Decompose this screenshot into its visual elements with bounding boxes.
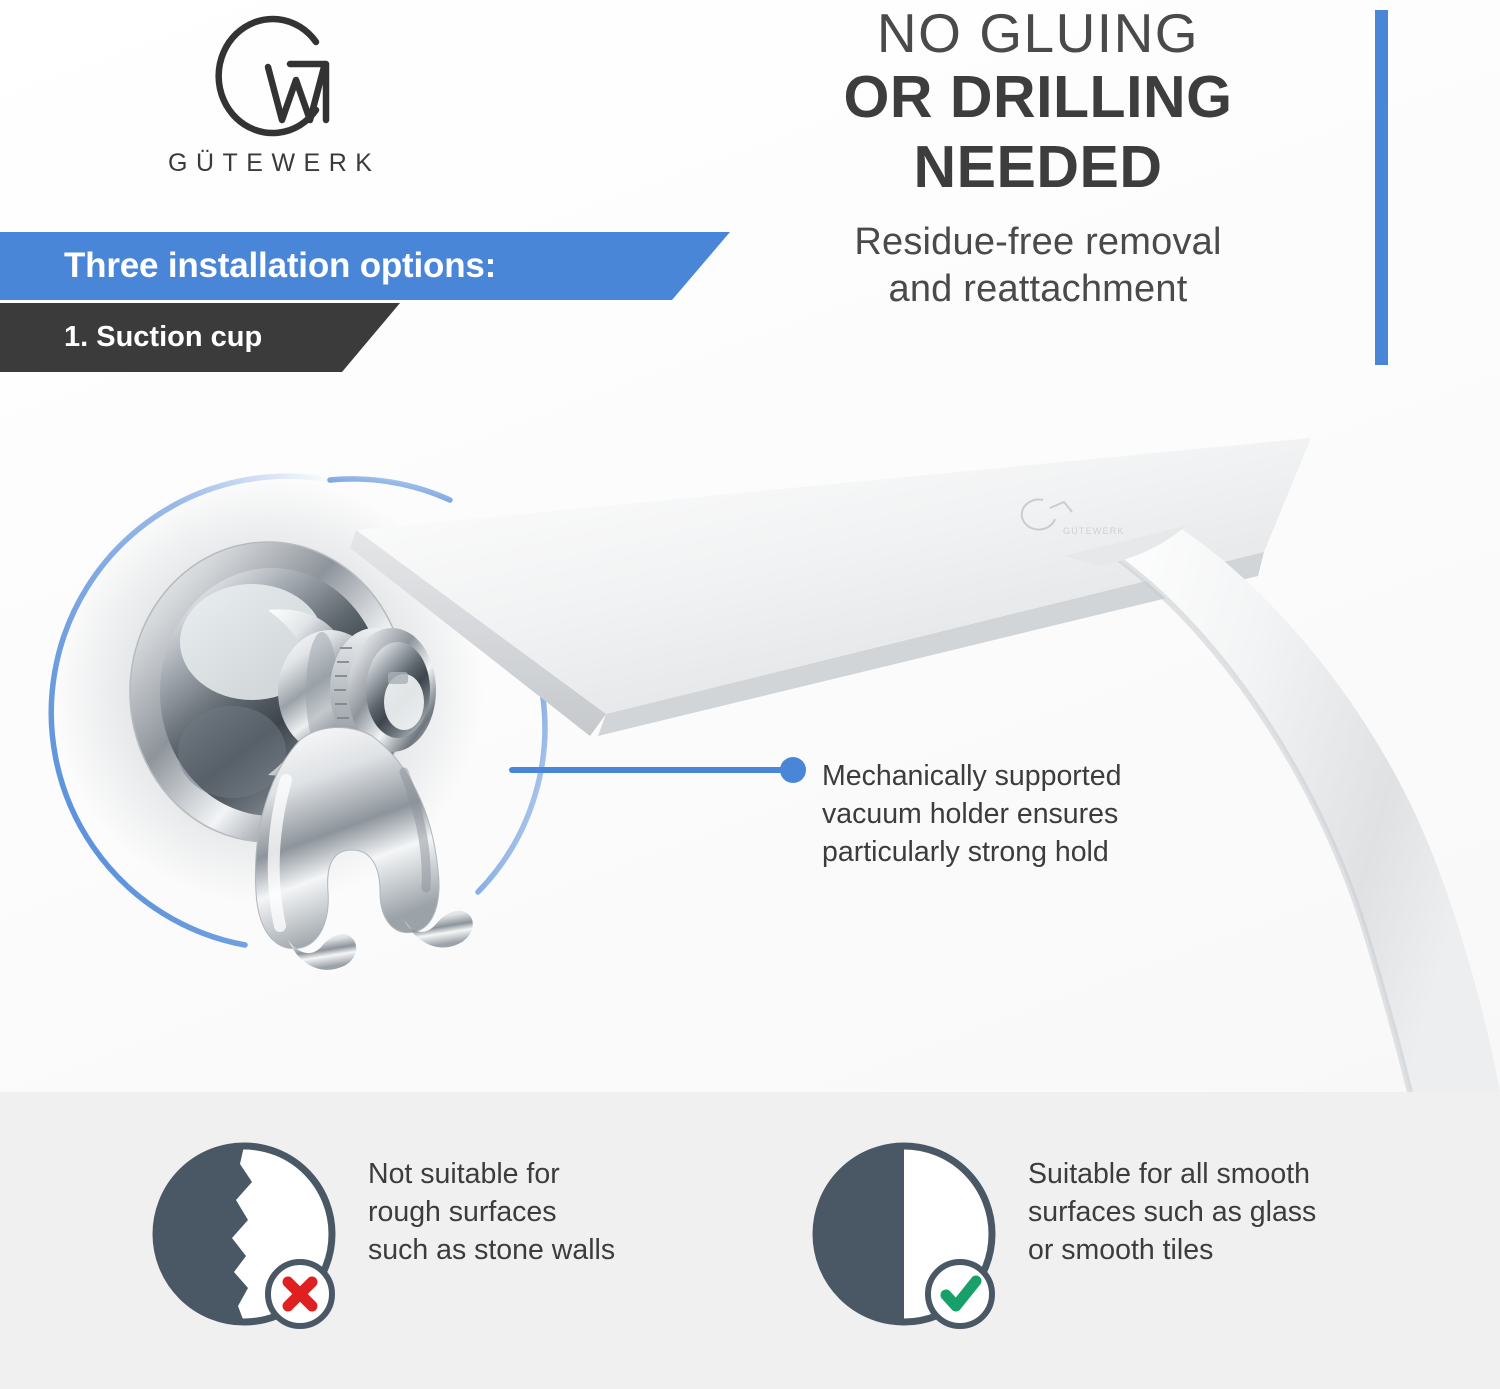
installation-options-label: Three installation options:	[64, 246, 496, 286]
callout-connector-dot	[780, 757, 806, 783]
headline-line-3: NEEDED	[728, 133, 1348, 203]
brand-wordmark: GÜTEWERK	[150, 149, 390, 178]
suitability-line-3: or smooth tiles	[1028, 1232, 1316, 1270]
suitability-line-1: Not suitable for	[368, 1156, 615, 1194]
suitability-item-not-suitable: Not suitable for rough surfaces such as …	[152, 1144, 615, 1338]
suitability-line-3: such as stone walls	[368, 1232, 615, 1270]
svg-text:GÜTEWERK: GÜTEWERK	[1063, 526, 1125, 536]
callout-text: Mechanically supported vacuum holder ens…	[822, 758, 1222, 872]
smooth-surface-circle-icon	[812, 1138, 1012, 1338]
suitability-text-not-suitable: Not suitable for rough surfaces such as …	[368, 1144, 615, 1270]
blue-accent-arc-right	[478, 680, 545, 892]
installation-options-banner: Three installation options:	[0, 232, 730, 300]
brand-logo: GÜTEWERK	[150, 8, 390, 178]
product-illustration: GÜTEWERK	[0, 380, 1500, 1092]
gutewerk-gw-monogram-icon	[200, 8, 340, 143]
callout-line-2: vacuum holder ensures	[822, 796, 1222, 834]
rough-surface-circle-icon	[152, 1138, 352, 1338]
suitability-line-1: Suitable for all smooth	[1028, 1156, 1316, 1194]
callout-line-1: Mechanically supported	[822, 758, 1222, 796]
headline-line-2: OR DRILLING	[728, 63, 1348, 133]
callout-line-3: particularly strong hold	[822, 834, 1222, 872]
suitability-line-2: rough surfaces	[368, 1194, 615, 1232]
current-option-label: 1. Suction cup	[64, 321, 262, 354]
headline-subtitle-line-1: Residue-free removal	[728, 219, 1348, 267]
surface-suitability-band: Not suitable for rough surfaces such as …	[0, 1092, 1500, 1389]
product-photo: GÜTEWERK	[0, 380, 1500, 1092]
suitability-text-suitable: Suitable for all smooth surfaces such as…	[1028, 1144, 1316, 1270]
headline-block: NO GLUING OR DRILLING NEEDED Residue-fre…	[728, 4, 1348, 314]
suction-cup-highlight-2	[178, 706, 286, 798]
headline-accent-bar	[1375, 10, 1388, 365]
headline-line-1: NO GLUING	[728, 4, 1348, 63]
suitability-item-suitable: Suitable for all smooth surfaces such as…	[812, 1144, 1316, 1338]
headline-subtitle-line-2: and reattachment	[728, 266, 1348, 314]
current-option-banner: 1. Suction cup	[0, 303, 400, 372]
infographic-page: GÜTEWERK Three installation options: 1. …	[0, 0, 1500, 1389]
suitability-line-2: surfaces such as glass	[1028, 1194, 1316, 1232]
